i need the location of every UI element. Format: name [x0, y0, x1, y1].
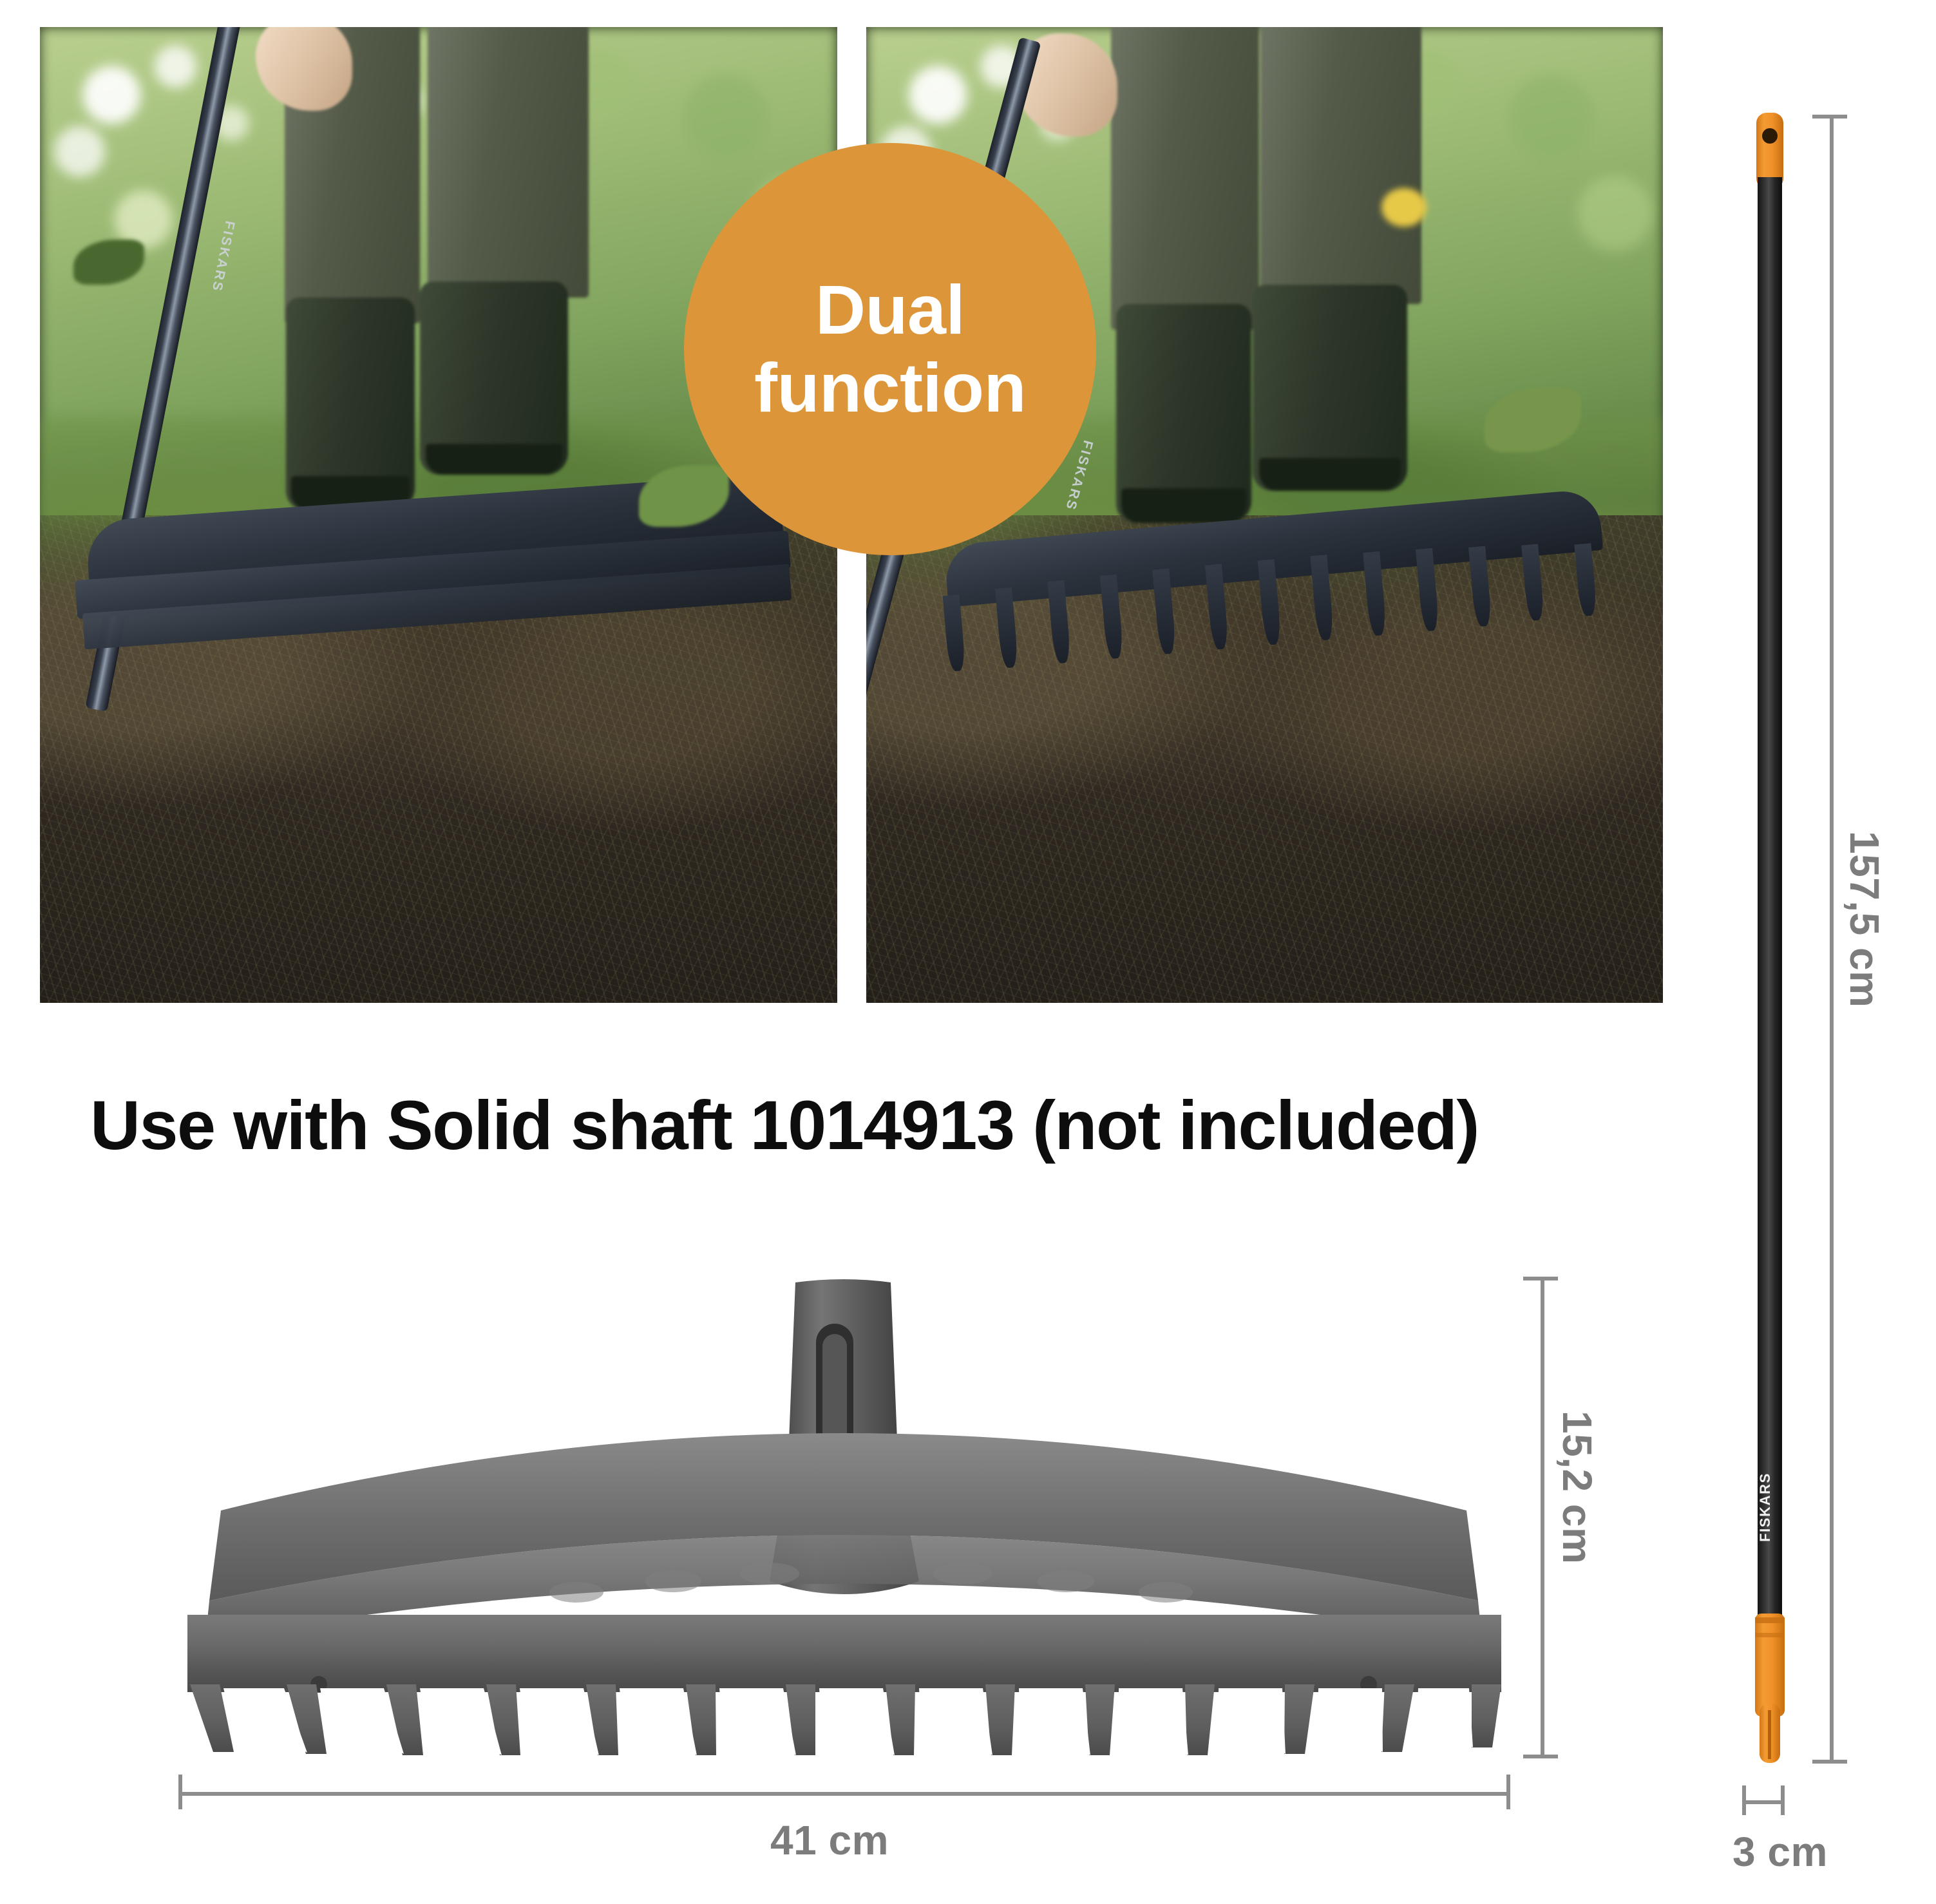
rake-head-bar — [187, 1615, 1501, 1693]
dimension-label-shaft-length: 157,5 cm — [1841, 831, 1888, 1007]
rake-head-arch — [205, 1433, 1482, 1639]
foreground-flower — [1381, 188, 1427, 227]
dual-function-badge-label: Dual function — [754, 271, 1026, 427]
dimension-cap-top — [1523, 1277, 1558, 1280]
shaft-bottom-connector — [1755, 1614, 1785, 1763]
dimension-cap-right — [1781, 1785, 1785, 1815]
dimension-cap-left — [178, 1775, 182, 1809]
rake-head-svg — [164, 1279, 1523, 1755]
trouser-right — [1260, 27, 1421, 304]
dimension-cap-top — [1812, 115, 1847, 119]
rake-flat-side-photo: FISKARS — [40, 27, 837, 1003]
shaft-svg: FISKARS — [1751, 113, 1789, 1765]
dimension-cap-bottom — [1812, 1760, 1847, 1764]
rake-tine — [1574, 543, 1597, 616]
rake-tine — [943, 595, 966, 672]
dimension-cap-left — [1742, 1785, 1746, 1815]
boot-right — [420, 281, 568, 475]
rake-head-product-drawing — [164, 1279, 1523, 1755]
trouser-right — [428, 27, 589, 298]
boot-left — [286, 298, 415, 510]
boot-left — [1116, 304, 1251, 523]
dimension-line-vertical — [1830, 115, 1834, 1764]
trouser-left — [1111, 27, 1259, 330]
dimension-line-horizontal — [178, 1792, 1510, 1796]
solid-shaft-product-drawing: FISKARS — [1751, 113, 1789, 1765]
page-headline: Use with Solid shaft 1014913 (not includ… — [90, 1085, 1829, 1165]
product-photo-gallery: FISKARS FISKARS — [40, 27, 1663, 1003]
shaft-tube — [1758, 177, 1782, 1632]
shaft-brand-mark: FISKARS — [1757, 1472, 1773, 1542]
boot-right — [1253, 285, 1407, 491]
rake-tine — [1521, 544, 1544, 622]
dual-function-badge: Dual function — [684, 143, 1096, 555]
rake-tine — [1381, 1684, 1414, 1752]
rake-tine — [1284, 1684, 1314, 1754]
garden-scene-left: FISKARS — [40, 27, 837, 1003]
dimension-cap-right — [1506, 1775, 1510, 1809]
dimension-cap-bottom — [1523, 1755, 1558, 1758]
dimension-label-head-height: 15,2 cm — [1553, 1411, 1601, 1564]
rake-tine — [1085, 1684, 1115, 1755]
rake-tine — [1472, 1684, 1501, 1747]
rake-tine — [1185, 1684, 1215, 1755]
dimension-line-horizontal — [1742, 1800, 1785, 1804]
dimension-line-vertical — [1541, 1277, 1544, 1758]
dimension-label-head-width: 41 cm — [770, 1816, 889, 1864]
dimension-label-shaft-diameter: 3 cm — [1732, 1828, 1828, 1876]
